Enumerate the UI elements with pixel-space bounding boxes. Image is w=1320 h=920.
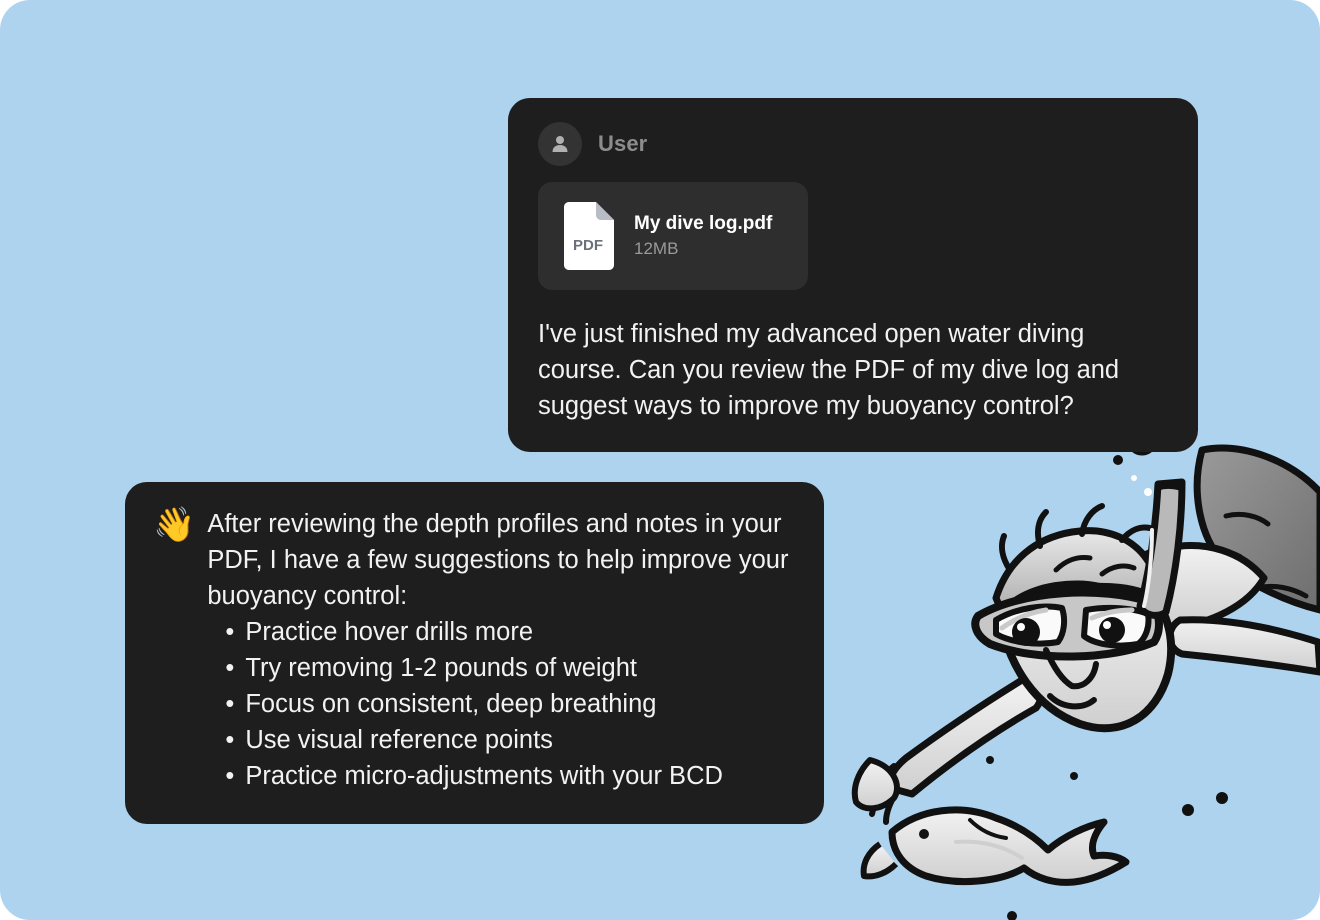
svg-text:PDF: PDF (573, 237, 603, 254)
attachment-file-size: 12MB (634, 239, 772, 259)
waving-hand-icon: 👋 (153, 507, 195, 543)
list-item: Use visual reference points (245, 722, 794, 758)
list-item: Practice micro-adjustments with your BCD (245, 758, 794, 794)
assistant-message-text: After reviewing the depth profiles and n… (207, 506, 794, 794)
snorkeler-illustration (850, 420, 1320, 920)
attachment-file-name: My dive log.pdf (634, 213, 772, 235)
list-item: Practice hover drills more (245, 614, 794, 650)
assistant-intro-text: After reviewing the depth profiles and n… (207, 510, 788, 610)
person-avatar-icon (538, 122, 582, 166)
list-item: Focus on consistent, deep breathing (245, 686, 794, 722)
assistant-body: 👋 After reviewing the depth profiles and… (153, 506, 794, 794)
user-message-bubble: User PDF My dive log.pdf 12MB I've just … (508, 98, 1198, 452)
list-item: Try removing 1-2 pounds of weight (245, 650, 794, 686)
attachment-card[interactable]: PDF My dive log.pdf 12MB (538, 182, 808, 290)
attachment-meta: My dive log.pdf 12MB (634, 213, 772, 259)
suggestion-list: Practice hover drills more Try removing … (207, 614, 794, 794)
user-header: User (538, 122, 1168, 166)
assistant-message-bubble: 👋 After reviewing the depth profiles and… (125, 482, 824, 824)
sender-label: User (598, 131, 647, 157)
user-message-text: I've just finished my advanced open wate… (538, 316, 1168, 424)
screenshot-canvas: User PDF My dive log.pdf 12MB I've just … (0, 0, 1320, 920)
pdf-file-icon: PDF (560, 202, 614, 270)
